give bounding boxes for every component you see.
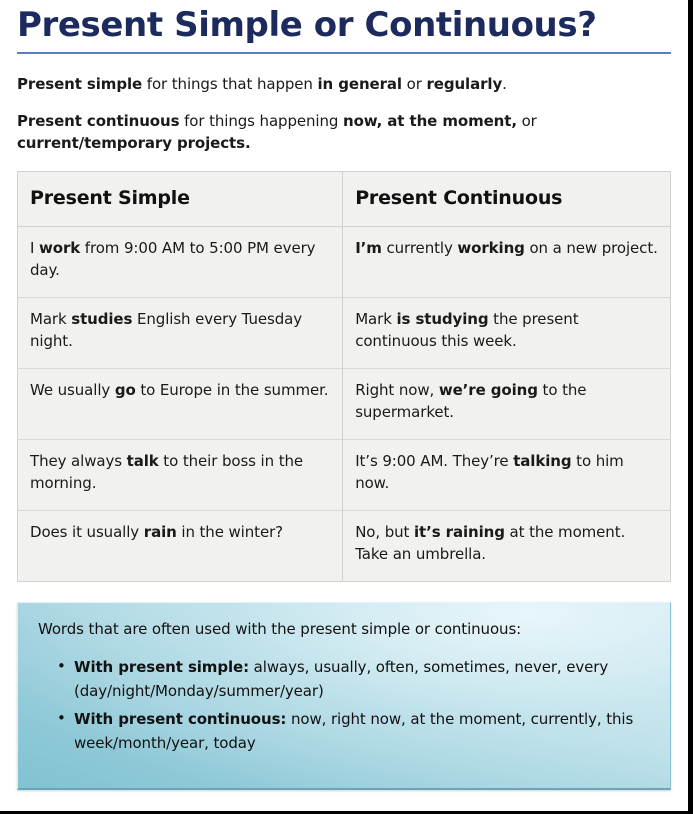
title-block: Present Simple or Continuous? xyxy=(17,0,671,54)
signal-words-note-box: Words that are often used with the prese… xyxy=(17,602,671,790)
intro-paragraph-present-simple: Present simple for things that happen in… xyxy=(17,74,671,96)
cell-present-continuous: Mark is studying the present continuous … xyxy=(343,298,671,369)
table-row: I work from 9:00 AM to 5:00 PM every day… xyxy=(18,227,671,298)
cell-present-simple: They always talk to their boss in the mo… xyxy=(18,440,343,511)
table-row: We usually go to Europe in the summer. R… xyxy=(18,369,671,440)
table-header-row: Present Simple Present Continuous xyxy=(18,172,671,227)
note-lead-text: Words that are often used with the prese… xyxy=(38,619,650,641)
title-divider xyxy=(17,52,671,54)
intro-paragraph-present-continuous: Present continuous for things happening … xyxy=(17,111,671,155)
table-row: They always talk to their boss in the mo… xyxy=(18,440,671,511)
table-header: Present Simple Present Continuous xyxy=(18,172,671,227)
table-row: Does it usually rain in the winter? No, … xyxy=(18,511,671,582)
column-header-present-simple: Present Simple xyxy=(18,172,343,227)
page-content: Present Simple or Continuous? Present si… xyxy=(0,0,688,790)
note-list: With present simple: always, usually, of… xyxy=(38,655,650,755)
table-row: Mark studies English every Tuesday night… xyxy=(18,298,671,369)
column-header-present-continuous: Present Continuous xyxy=(343,172,671,227)
table-body: I work from 9:00 AM to 5:00 PM every day… xyxy=(18,227,671,582)
cell-present-continuous: No, but it’s raining at the moment. Take… xyxy=(343,511,671,582)
cell-present-simple: I work from 9:00 AM to 5:00 PM every day… xyxy=(18,227,343,298)
comparison-table: Present Simple Present Continuous I work… xyxy=(17,171,671,582)
intro-section: Present simple for things that happen in… xyxy=(17,74,671,154)
list-item: With present simple: always, usually, of… xyxy=(74,655,650,704)
list-item: With present continuous: now, right now,… xyxy=(74,707,650,756)
cell-present-continuous: Right now, we’re going to the supermarke… xyxy=(343,369,671,440)
cell-present-continuous: I’m currently working on a new project. xyxy=(343,227,671,298)
page-title: Present Simple or Continuous? xyxy=(17,6,671,52)
cell-present-simple: Mark studies English every Tuesday night… xyxy=(18,298,343,369)
cell-present-simple: Does it usually rain in the winter? xyxy=(18,511,343,582)
worksheet-page: Present Simple or Continuous? Present si… xyxy=(0,0,693,814)
cell-present-simple: We usually go to Europe in the summer. xyxy=(18,369,343,440)
cell-present-continuous: It’s 9:00 AM. They’re talking to him now… xyxy=(343,440,671,511)
